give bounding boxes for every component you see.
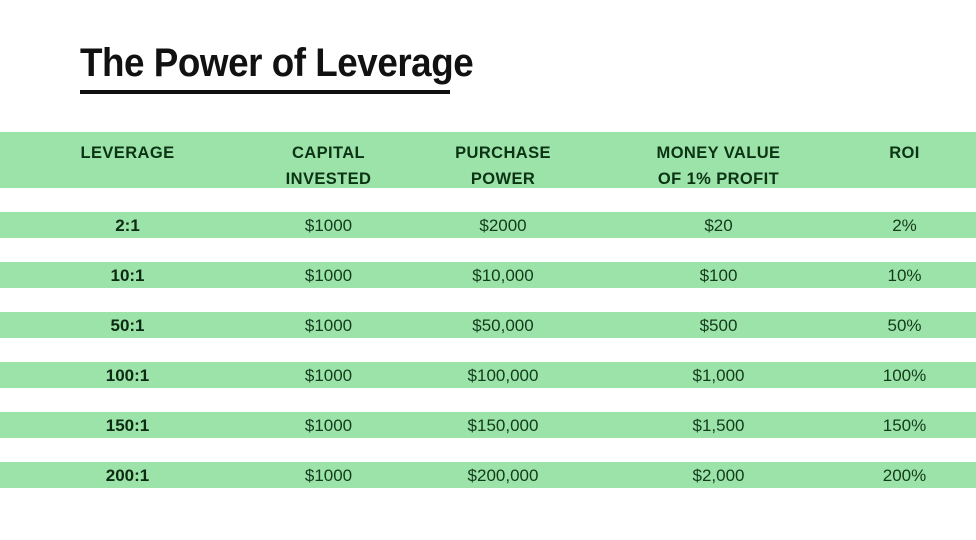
cell-purchase-power: $100,000 [402, 367, 604, 384]
cell-leverage: 2:1 [0, 217, 255, 234]
cell-capital-invested: $1000 [255, 417, 402, 434]
cell-roi: 2% [833, 217, 976, 234]
band-gap [0, 438, 976, 462]
column-header-capital-invested-line2: INVESTED [255, 167, 402, 193]
band-gap [0, 388, 976, 412]
band-gap [0, 338, 976, 362]
cell-capital-invested: $1000 [255, 317, 402, 334]
column-header-capital-invested: CAPITAL INVESTED [255, 132, 402, 192]
band-gap [0, 238, 976, 262]
cell-leverage: 50:1 [0, 317, 255, 334]
column-header-money-value: MONEY VALUE OF 1% PROFIT [604, 132, 833, 192]
table-row: 50:1 $1000 $50,000 $500 50% [0, 312, 976, 338]
leverage-table: LEVERAGE CAPITAL INVESTED PURCHASE POWER… [0, 132, 976, 488]
cell-roi: 50% [833, 317, 976, 334]
cell-money-value: $1,500 [604, 417, 833, 434]
cell-roi: 100% [833, 367, 976, 384]
title-block: The Power of Leverage [80, 42, 680, 94]
cell-money-value: $20 [604, 217, 833, 234]
cell-purchase-power: $2000 [402, 217, 604, 234]
table-header-row: LEVERAGE CAPITAL INVESTED PURCHASE POWER… [0, 132, 976, 188]
cell-purchase-power: $150,000 [402, 417, 604, 434]
cell-capital-invested: $1000 [255, 267, 402, 284]
column-header-roi: ROI [833, 132, 976, 167]
table-row: 2:1 $1000 $2000 $20 2% [0, 212, 976, 238]
column-header-purchase-power-line1: PURCHASE [402, 141, 604, 167]
table-row: 100:1 $1000 $100,000 $1,000 100% [0, 362, 976, 388]
cell-money-value: $500 [604, 317, 833, 334]
cell-roi: 10% [833, 267, 976, 284]
band-gap [0, 288, 976, 312]
cell-leverage: 10:1 [0, 267, 255, 284]
cell-purchase-power: $50,000 [402, 317, 604, 334]
cell-leverage: 100:1 [0, 367, 255, 384]
column-header-leverage-line1: LEVERAGE [0, 141, 255, 167]
column-header-roi-line1: ROI [833, 141, 976, 167]
cell-leverage: 150:1 [0, 417, 255, 434]
title-underline-rule [80, 90, 450, 94]
cell-money-value: $2,000 [604, 467, 833, 484]
column-header-capital-invested-line1: CAPITAL [255, 141, 402, 167]
slide: The Power of Leverage LEVERAGE CAPITAL I… [0, 0, 976, 540]
cell-money-value: $100 [604, 267, 833, 284]
column-header-money-value-line1: MONEY VALUE [604, 141, 833, 167]
cell-money-value: $1,000 [604, 367, 833, 384]
column-header-money-value-line2: OF 1% PROFIT [604, 167, 833, 193]
column-header-leverage: LEVERAGE [0, 132, 255, 167]
cell-roi: 200% [833, 467, 976, 484]
cell-leverage: 200:1 [0, 467, 255, 484]
table-row: 200:1 $1000 $200,000 $2,000 200% [0, 462, 976, 488]
cell-purchase-power: $200,000 [402, 467, 604, 484]
column-header-purchase-power-line2: POWER [402, 167, 604, 193]
cell-capital-invested: $1000 [255, 467, 402, 484]
page-title: The Power of Leverage [80, 42, 632, 84]
table-row: 150:1 $1000 $150,000 $1,500 150% [0, 412, 976, 438]
cell-capital-invested: $1000 [255, 367, 402, 384]
table-row: 10:1 $1000 $10,000 $100 10% [0, 262, 976, 288]
cell-purchase-power: $10,000 [402, 267, 604, 284]
column-header-purchase-power: PURCHASE POWER [402, 132, 604, 192]
cell-roi: 150% [833, 417, 976, 434]
cell-capital-invested: $1000 [255, 217, 402, 234]
